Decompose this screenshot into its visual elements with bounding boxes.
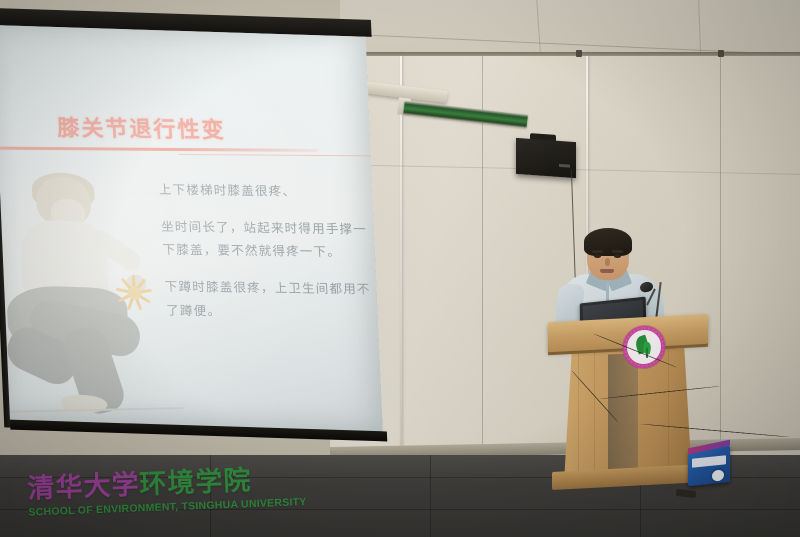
speaker-badge — [559, 164, 570, 168]
watermark-chinese-purple: 清华大学 — [27, 469, 140, 504]
track-hook — [576, 50, 582, 57]
screen-surface: 膝关节退行性变 上下楼梯时膝盖很疼、 坐时间长了，站起来时得用手撑一下膝盖，要不… — [0, 25, 383, 434]
podium — [548, 318, 708, 493]
slide-line-1: 上下楼梯时膝盖很疼、 — [158, 178, 375, 204]
track-hook — [718, 50, 724, 57]
projection-screen: 膝关节退行性变 上下楼梯时膝盖很疼、 坐时间长了，站起来时得用手撑一下膝盖，要不… — [0, 8, 390, 449]
watermark-chinese-green: 环境学院 — [139, 465, 252, 500]
slide-title-underline — [0, 147, 319, 152]
blue-box-package — [688, 446, 730, 486]
slide-line-2: 坐时间长了，站起来时得用手撑一下膝盖，要不然就得疼一下。 — [160, 215, 378, 264]
slide-title-underline-thin — [179, 154, 379, 156]
podium-shadow-strip — [608, 353, 638, 484]
wall-speaker — [516, 138, 576, 178]
partition-track — [330, 52, 800, 56]
slide-line-3: 下蹲时膝盖很疼，上卫生间都用不了蹲便。 — [164, 275, 382, 324]
slide: 膝关节退行性变 上下楼梯时膝盖很疼、 坐时间长了，站起来时得用手撑一下膝盖，要不… — [0, 25, 383, 434]
watermark: 清华大学环境学院 SCHOOL OF ENVIRONMENT, TSINGHUA… — [27, 464, 329, 531]
slide-title: 膝关节退行性变 — [56, 110, 226, 144]
pain-burst-icon — [116, 274, 154, 311]
lecture-room-photo: · — [0, 0, 800, 537]
slide-illustration-knee-pain — [0, 175, 180, 430]
slide-body: 上下楼梯时膝盖很疼、 坐时间长了，站起来时得用手撑一下膝盖，要不然就得疼一下。 … — [158, 178, 383, 339]
